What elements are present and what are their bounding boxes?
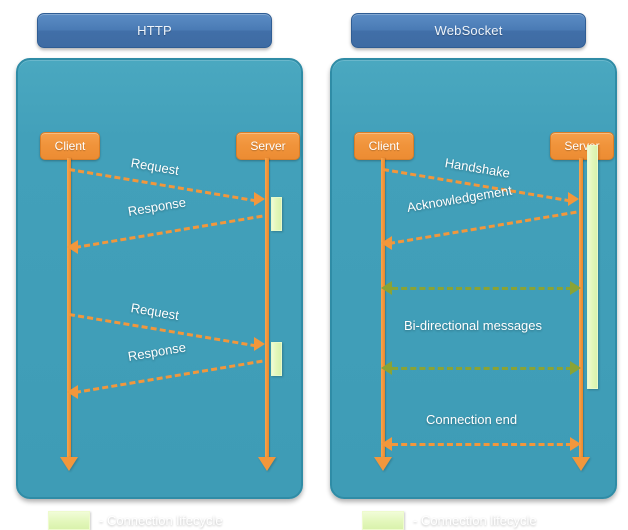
message-arrow-http-3 — [254, 337, 265, 351]
message-label-websocket-1: Handshake — [444, 155, 511, 181]
message-arrow-left-websocket-5 — [381, 361, 392, 375]
message-arrow-right-websocket-5 — [570, 361, 581, 375]
actor-server-http: Server — [236, 132, 300, 160]
panel-title-bar-websocket: WebSocket — [351, 13, 586, 48]
protocol-comparison-diagram: HTTP Client Server Request Response — [0, 0, 628, 511]
panel-body-websocket: Client Server Handshake Acknowledgement — [330, 58, 617, 499]
message-arrow-right-websocket-6 — [570, 437, 581, 451]
message-label-websocket-bidirectional: Bi-directional messages — [404, 318, 542, 333]
message-arrow-right-websocket-3 — [570, 281, 581, 295]
legend-swatch-icon-http — [48, 511, 90, 530]
panel-title-http: HTTP — [137, 23, 172, 38]
message-arrow-websocket-2 — [381, 236, 392, 250]
actor-server-label-http: Server — [250, 139, 285, 153]
message-line-websocket-3 — [392, 287, 572, 290]
actor-client-http: Client — [40, 132, 100, 160]
lifeline-end-arrow-client-websocket — [374, 457, 392, 471]
message-label-websocket-6: Connection end — [426, 412, 517, 427]
legend-swatch-icon-websocket — [362, 511, 404, 530]
lifeline-end-arrow-client-http — [60, 457, 78, 471]
panel-body-http: Client Server Request Response Reque — [16, 58, 303, 499]
message-line-websocket-5 — [392, 367, 572, 370]
message-line-websocket-2 — [389, 211, 577, 245]
message-arrow-left-websocket-3 — [381, 281, 392, 295]
panel-http: HTTP Client Server Request Response — [8, 0, 308, 511]
lifecycle-bar-websocket-1 — [587, 145, 598, 389]
message-label-http-1: Request — [130, 155, 180, 178]
panel-websocket: WebSocket Client Server Handshake Acknow… — [322, 0, 622, 511]
lifeline-server-http — [265, 158, 269, 458]
message-label-http-2: Response — [127, 194, 187, 218]
lifeline-end-arrow-server-websocket — [572, 457, 590, 471]
message-label-http-3: Request — [130, 300, 180, 323]
lifecycle-bar-http-2 — [271, 342, 282, 376]
message-line-websocket-6 — [392, 443, 572, 446]
actor-server-websocket: Server — [550, 132, 614, 160]
panel-title-websocket: WebSocket — [434, 23, 502, 38]
lifeline-client-http — [67, 158, 71, 458]
legend-websocket: - Connection lifecycle — [362, 511, 537, 530]
actor-client-websocket: Client — [354, 132, 414, 160]
actor-client-label-http: Client — [55, 139, 86, 153]
message-line-http-4 — [75, 360, 263, 394]
message-arrow-websocket-1 — [568, 192, 579, 206]
message-arrow-http-4 — [67, 385, 78, 399]
legend-http: - Connection lifecycle — [48, 511, 223, 530]
message-line-http-2 — [75, 215, 263, 249]
message-arrow-left-websocket-6 — [381, 437, 392, 451]
lifecycle-bar-http-1 — [271, 197, 282, 231]
message-label-http-4: Response — [127, 339, 187, 363]
lifeline-client-websocket — [381, 158, 385, 458]
legend-label-http: - Connection lifecycle — [99, 513, 223, 528]
legend-label-websocket: - Connection lifecycle — [413, 513, 537, 528]
lifeline-server-websocket — [579, 158, 583, 458]
actor-client-label-websocket: Client — [369, 139, 400, 153]
message-label-websocket-2: Acknowledgement — [406, 183, 513, 215]
message-arrow-http-2 — [67, 240, 78, 254]
lifeline-end-arrow-server-http — [258, 457, 276, 471]
message-arrow-http-1 — [254, 192, 265, 206]
panel-title-bar-http: HTTP — [37, 13, 272, 48]
